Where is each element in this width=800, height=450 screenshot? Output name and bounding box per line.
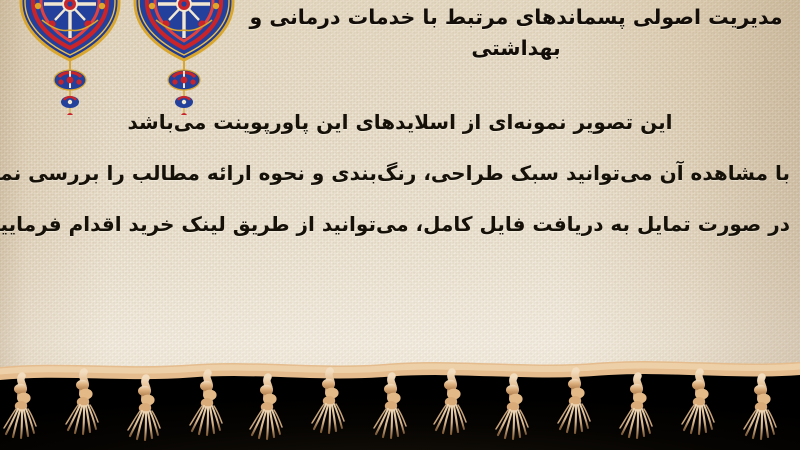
- slide-body-line-1: این تصویر نمونه‌ای از اسلایدهای این پاور…: [10, 108, 790, 137]
- black-base-strip: [0, 372, 800, 450]
- slide-body-line-3: در صورت تمایل به دریافت فایل کامل، می‌تو…: [10, 210, 790, 239]
- slide-title-line-2: بهداشتی: [246, 33, 786, 64]
- slide-body: این تصویر نمونه‌ای از اسلایدهای این پاور…: [10, 108, 790, 240]
- slide-title: مدیریت اصولی پسماندهای مرتبط با خدمات در…: [246, 2, 786, 64]
- slide-canvas: مدیریت اصولی پسماندهای مرتبط با خدمات در…: [0, 0, 800, 450]
- slide-title-line-1: مدیریت اصولی پسماندهای مرتبط با خدمات در…: [246, 2, 786, 33]
- slide-body-line-2: با مشاهده آن می‌توانید سبک طراحی، رنگ‌بن…: [10, 159, 790, 188]
